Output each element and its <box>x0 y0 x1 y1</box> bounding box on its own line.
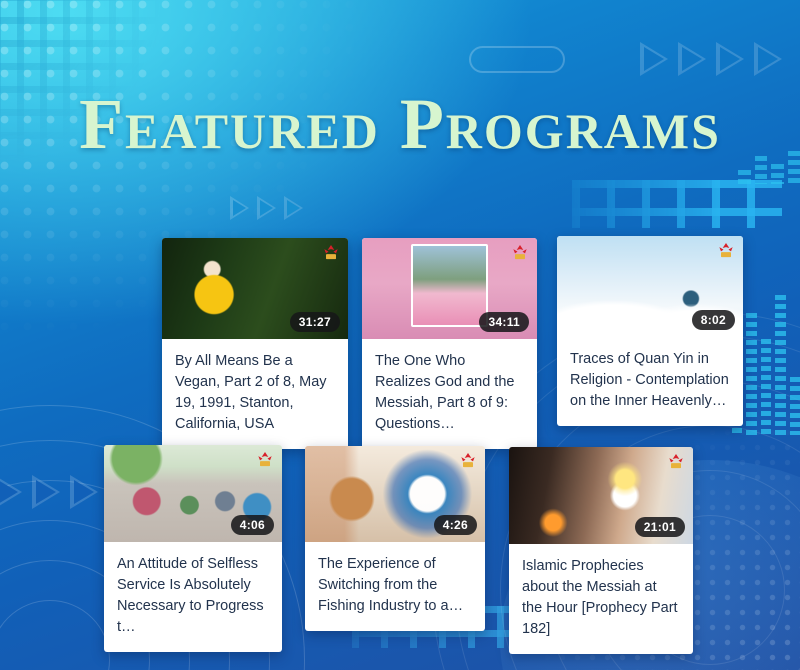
program-thumbnail[interactable]: 4:06 <box>104 445 282 542</box>
play-triangle-icon <box>32 475 60 509</box>
program-title: The One Who Realizes God and the Messiah… <box>362 339 537 449</box>
play-triangle-icon <box>70 475 98 509</box>
program-thumbnail[interactable]: 34:11 <box>362 238 537 339</box>
program-card[interactable]: 21:01 Islamic Prophecies about the Messi… <box>509 447 693 654</box>
program-card[interactable]: 8:02 Traces of Quan Yin in Religion - Co… <box>557 236 743 426</box>
duration-badge: 8:02 <box>692 310 735 330</box>
program-card[interactable]: 31:27 By All Means Be a Vegan, Part 2 of… <box>162 238 348 449</box>
program-title: Traces of Quan Yin in Religion - Contemp… <box>557 337 743 426</box>
brand-logo-icon <box>458 452 478 469</box>
play-triangle-icon <box>284 196 303 220</box>
play-triangle-icon <box>257 196 276 220</box>
program-thumbnail[interactable]: 4:26 <box>305 446 485 542</box>
brand-logo-icon <box>255 451 275 468</box>
brand-logo-icon <box>510 244 530 261</box>
program-thumbnail[interactable]: 21:01 <box>509 447 693 544</box>
featured-programs-banner: Featured Programs 31:27 By All Means Be … <box>0 0 800 670</box>
play-triangle-icon <box>640 42 668 76</box>
program-title: Islamic Prophecies about the Messiah at … <box>509 544 693 654</box>
play-triangle-icon <box>678 42 706 76</box>
program-title: By All Means Be a Vegan, Part 2 of 8, Ma… <box>162 339 348 449</box>
brand-logo-icon <box>321 244 341 261</box>
square-dots-right <box>572 180 782 228</box>
duration-badge: 31:27 <box>290 312 340 332</box>
program-card[interactable]: 34:11 The One Who Realizes God and the M… <box>362 238 537 449</box>
duration-badge: 4:06 <box>231 515 274 535</box>
play-triangle-icon <box>0 475 22 509</box>
program-thumbnail[interactable]: 31:27 <box>162 238 348 339</box>
play-triangle-icons-left <box>0 475 98 509</box>
duration-badge: 4:26 <box>434 515 477 535</box>
play-triangle-icon <box>230 196 249 220</box>
brand-logo-icon <box>666 453 686 470</box>
program-thumbnail[interactable]: 8:02 <box>557 236 743 337</box>
play-triangle-icons-mid-left <box>230 196 303 220</box>
duration-badge: 21:01 <box>635 517 685 537</box>
play-triangle-icons-top-right <box>640 42 782 76</box>
brand-logo-icon <box>716 242 736 259</box>
program-card[interactable]: 4:06 An Attitude of Selfless Service Is … <box>104 445 282 652</box>
play-triangle-icon <box>716 42 744 76</box>
program-card[interactable]: 4:26 The Experience of Switching from th… <box>305 446 485 631</box>
page-title: Featured Programs <box>0 88 800 160</box>
program-title: The Experience of Switching from the Fis… <box>305 542 485 631</box>
program-title: An Attitude of Selfless Service Is Absol… <box>104 542 282 652</box>
play-triangle-icon <box>754 42 782 76</box>
rounded-pill-icon <box>469 46 565 73</box>
duration-badge: 34:11 <box>479 312 529 332</box>
